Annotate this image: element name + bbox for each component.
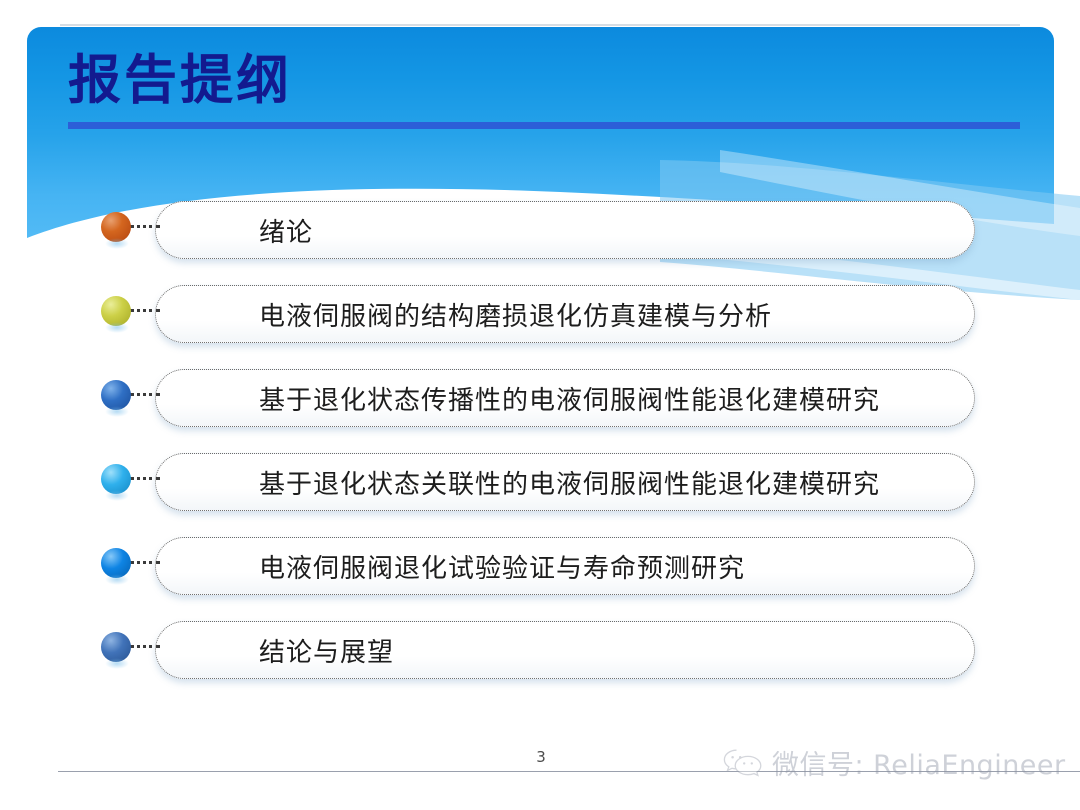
- watermark-text: 微信号: ReliaEngineer: [772, 743, 1066, 782]
- list-item[interactable]: 绪论: [0, 194, 1080, 278]
- list-item[interactable]: 电液伺服阀的结构磨损退化仿真建模与分析: [0, 278, 1080, 362]
- watermark: 微信号: ReliaEngineer: [722, 743, 1066, 782]
- bullet-yellow-green-icon: [101, 296, 131, 326]
- connector-dotted-line: [130, 477, 160, 483]
- wechat-icon: [722, 748, 764, 778]
- bullet-blue-icon: [101, 380, 131, 410]
- outline-item-label: 基于退化状态传播性的电液伺服阀性能退化建模研究: [156, 380, 880, 417]
- outline-item-label: 电液伺服阀的结构磨损退化仿真建模与分析: [156, 296, 772, 333]
- list-item[interactable]: 基于退化状态关联性的电液伺服阀性能退化建模研究: [0, 446, 1080, 530]
- outline-item-label: 绪论: [156, 212, 313, 249]
- outline-item-label: 基于退化状态关联性的电液伺服阀性能退化建模研究: [156, 464, 880, 501]
- outline-pill[interactable]: 基于退化状态传播性的电液伺服阀性能退化建模研究: [155, 369, 975, 427]
- connector-dotted-line: [130, 393, 160, 399]
- outline-item-label: 电液伺服阀退化试验验证与寿命预测研究: [156, 548, 745, 585]
- list-item[interactable]: 结论与展望: [0, 614, 1080, 698]
- outline-pill[interactable]: 绪论: [155, 201, 975, 259]
- list-item[interactable]: 电液伺服阀退化试验验证与寿命预测研究: [0, 530, 1080, 614]
- outline-pill[interactable]: 结论与展望: [155, 621, 975, 679]
- page-title: 报告提纲: [68, 52, 968, 110]
- connector-dotted-line: [130, 309, 160, 315]
- header-top-rule: [60, 24, 1020, 26]
- outline-item-label: 结论与展望: [156, 632, 394, 669]
- bullet-steel-blue-icon: [101, 632, 131, 662]
- outline-pill[interactable]: 电液伺服阀退化试验验证与寿命预测研究: [155, 537, 975, 595]
- slide-canvas: 报告提纲 绪论 电液伺服阀的结构磨损退化仿真建模与分析 基于退化状态传播性的电液…: [0, 0, 1080, 810]
- bullet-orange-icon: [101, 212, 131, 242]
- outline-pill[interactable]: 基于退化状态关联性的电液伺服阀性能退化建模研究: [155, 453, 975, 511]
- bullet-bright-blue-icon: [101, 548, 131, 578]
- title-underline-rule: [68, 122, 1020, 129]
- connector-dotted-line: [130, 645, 160, 651]
- page-title-wrap: 报告提纲: [68, 52, 968, 110]
- list-item[interactable]: 基于退化状态传播性的电液伺服阀性能退化建模研究: [0, 362, 1080, 446]
- bullet-cyan-icon: [101, 464, 131, 494]
- outline-list: 绪论 电液伺服阀的结构磨损退化仿真建模与分析 基于退化状态传播性的电液伺服阀性能…: [0, 194, 1080, 698]
- connector-dotted-line: [130, 225, 160, 231]
- page-number: 3: [521, 748, 561, 766]
- outline-pill[interactable]: 电液伺服阀的结构磨损退化仿真建模与分析: [155, 285, 975, 343]
- connector-dotted-line: [130, 561, 160, 567]
